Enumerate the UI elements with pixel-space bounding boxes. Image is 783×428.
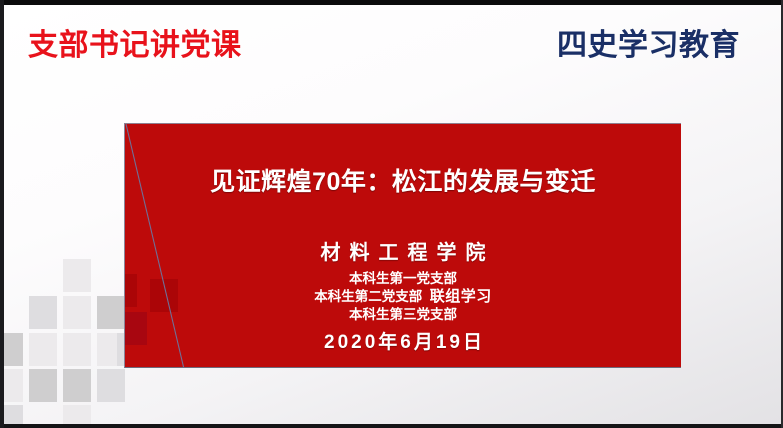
mosaic-square bbox=[4, 333, 23, 366]
branch-joint-study-note: 联组学习 bbox=[430, 288, 492, 305]
header-title-left: 支部书记讲党课 bbox=[28, 29, 242, 63]
mosaic-square bbox=[63, 296, 91, 329]
mosaic-square bbox=[63, 259, 91, 292]
letterbox-bar-top bbox=[0, 0, 783, 5]
branch-label-3: 本科生第三党支部 bbox=[349, 307, 457, 322]
slide-canvas: 支部书记讲党课 四史学习教育 见证辉煌70年：松江的发展与变迁 材料工程学院 本… bbox=[4, 5, 781, 424]
mosaic-square bbox=[63, 369, 91, 402]
mosaic-square bbox=[29, 333, 57, 366]
branch-line-2: 本科生第二党支部 联组学习 bbox=[125, 288, 681, 306]
slide-main-title: 见证辉煌70年：松江的发展与变迁 bbox=[125, 162, 681, 198]
mosaic-square bbox=[97, 296, 125, 329]
branch-label-1: 本科生第一党支部 bbox=[349, 271, 457, 286]
slide-date: 2020年6月19日 bbox=[125, 327, 681, 354]
mosaic-square bbox=[97, 369, 125, 402]
mosaic-square bbox=[4, 405, 23, 424]
branch-line-1: 本科生第一党支部 bbox=[125, 270, 681, 288]
slide-college-name: 材料工程学院 bbox=[125, 236, 681, 265]
slide-branch-list: 本科生第一党支部 本科生第二党支部 联组学习 本科生第三党支部 bbox=[125, 270, 681, 324]
mosaic-square bbox=[4, 369, 23, 402]
branch-line-3: 本科生第三党支部 bbox=[125, 306, 681, 324]
slide-red-panel: 见证辉煌70年：松江的发展与变迁 材料工程学院 本科生第一党支部 本科生第二党支… bbox=[124, 123, 681, 368]
header-title-right: 四史学习教育 bbox=[557, 29, 740, 63]
presentation-slide-viewer: 支部书记讲党课 四史学习教育 见证辉煌70年：松江的发展与变迁 材料工程学院 本… bbox=[0, 0, 783, 428]
mosaic-square bbox=[29, 296, 57, 329]
mosaic-square bbox=[63, 405, 91, 424]
letterbox-bar-bottom bbox=[0, 424, 783, 428]
mosaic-square bbox=[29, 369, 57, 402]
branch-label-2: 本科生第二党支部 bbox=[314, 289, 422, 304]
mosaic-square bbox=[63, 333, 91, 366]
letterbox-bar-left bbox=[0, 0, 4, 428]
